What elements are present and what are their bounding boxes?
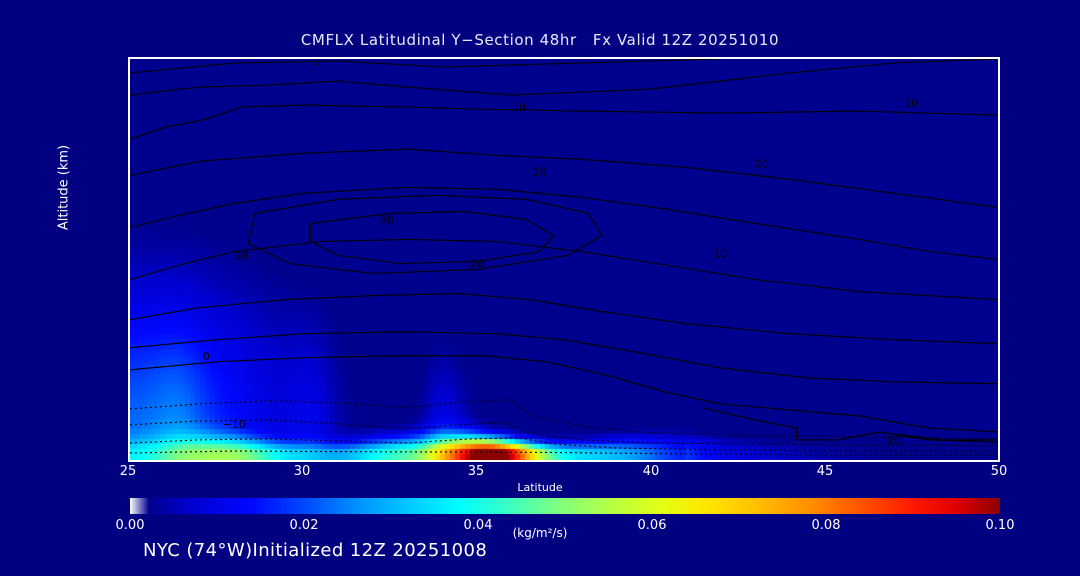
footer-caption: NYC (74°W)Initialized 12Z 20251008 xyxy=(143,540,487,561)
svg-text:10: 10 xyxy=(234,250,248,263)
chart-title: CMFLX Latitudinal Y−Section 48hr Fx Vali… xyxy=(0,31,1080,49)
colorbar[interactable] xyxy=(130,498,1000,514)
svg-text:20: 20 xyxy=(470,258,484,271)
x-tick-35: 35 xyxy=(446,464,506,479)
svg-text:20: 20 xyxy=(533,165,547,178)
svg-text:10: 10 xyxy=(904,97,918,110)
svg-text:10: 10 xyxy=(512,101,526,114)
svg-text:10: 10 xyxy=(887,434,901,447)
x-tick-25: 25 xyxy=(98,464,158,479)
x-axis-label: Latitude xyxy=(0,481,1080,494)
x-tick-45: 45 xyxy=(795,464,855,479)
x-tick-30: 30 xyxy=(272,464,332,479)
svg-text:−10: −10 xyxy=(223,418,246,431)
svg-text:0: 0 xyxy=(314,59,321,68)
svg-text:10: 10 xyxy=(713,248,727,261)
x-tick-40: 40 xyxy=(621,464,681,479)
svg-text:20: 20 xyxy=(755,157,769,170)
contour-overlay: 010203020100−1010201010 xyxy=(130,59,998,460)
plot-area[interactable]: 010203020100−1010201010 xyxy=(128,57,1000,462)
svg-text:0: 0 xyxy=(203,350,210,363)
y-axis-label: Altitude (km) xyxy=(57,108,72,268)
colorbar-units: (kg/m²/s) xyxy=(0,526,1080,540)
x-tick-50: 50 xyxy=(969,464,1029,479)
chart-canvas: CMFLX Latitudinal Y−Section 48hr Fx Vali… xyxy=(0,0,1080,576)
colorbar-gradient xyxy=(130,498,1000,514)
svg-text:30: 30 xyxy=(380,213,394,226)
